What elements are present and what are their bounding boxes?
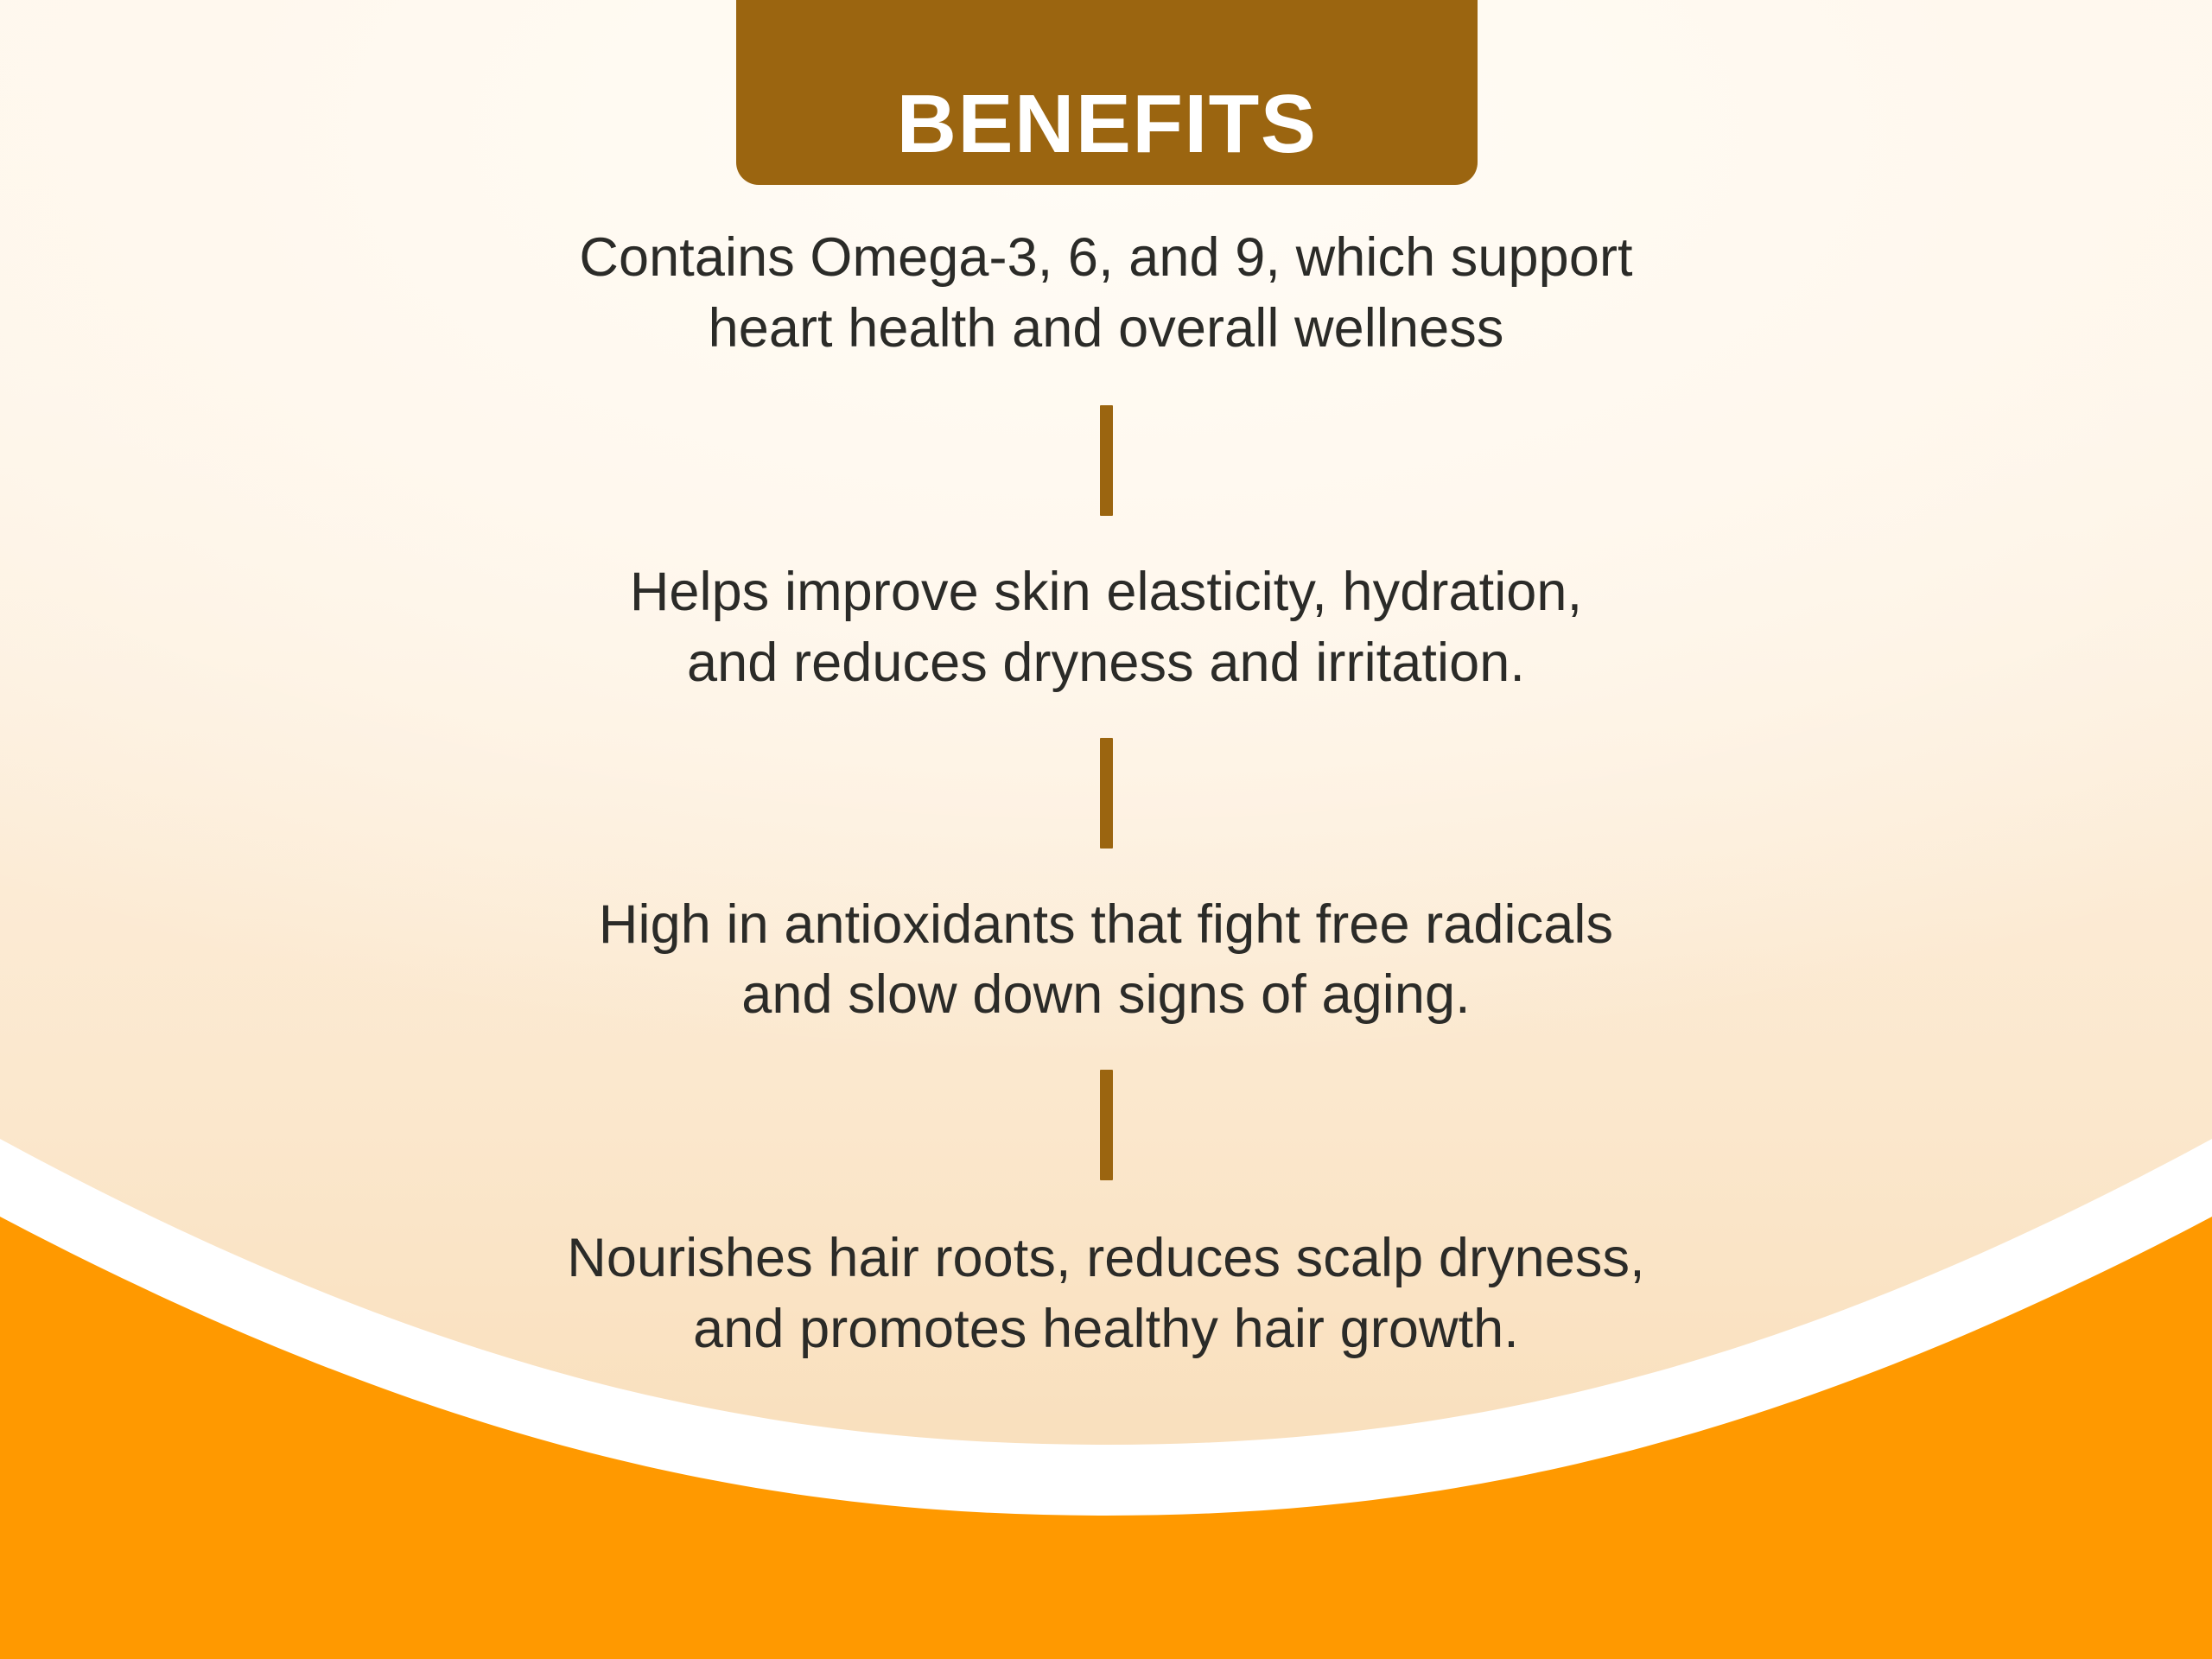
benefit-item-omega-fatty-acids: Contains Omega-3, 6, and 9, which suppor… [328,223,1884,365]
benefits-list: Contains Omega-3, 6, and 9, which suppor… [0,223,2212,1365]
benefit-item-antioxidants: High in antioxidants that fight free rad… [328,890,1884,1032]
benefit-item-hair-growth: Nourishes hair roots, reduces scalp dryn… [328,1224,1884,1365]
benefit-item-skin-elasticity: Helps improve skin elasticity, hydration… [328,557,1884,699]
benefit-divider-3 [1100,1070,1113,1180]
benefit-divider-1 [1100,405,1113,516]
benefit-divider-2 [1100,738,1113,849]
page-title: BENEFITS [897,83,1318,166]
benefits-poster: BENEFITS Contains Omega-3, 6, and 9, whi… [0,0,2212,1659]
benefits-header-banner: BENEFITS [736,0,1478,185]
